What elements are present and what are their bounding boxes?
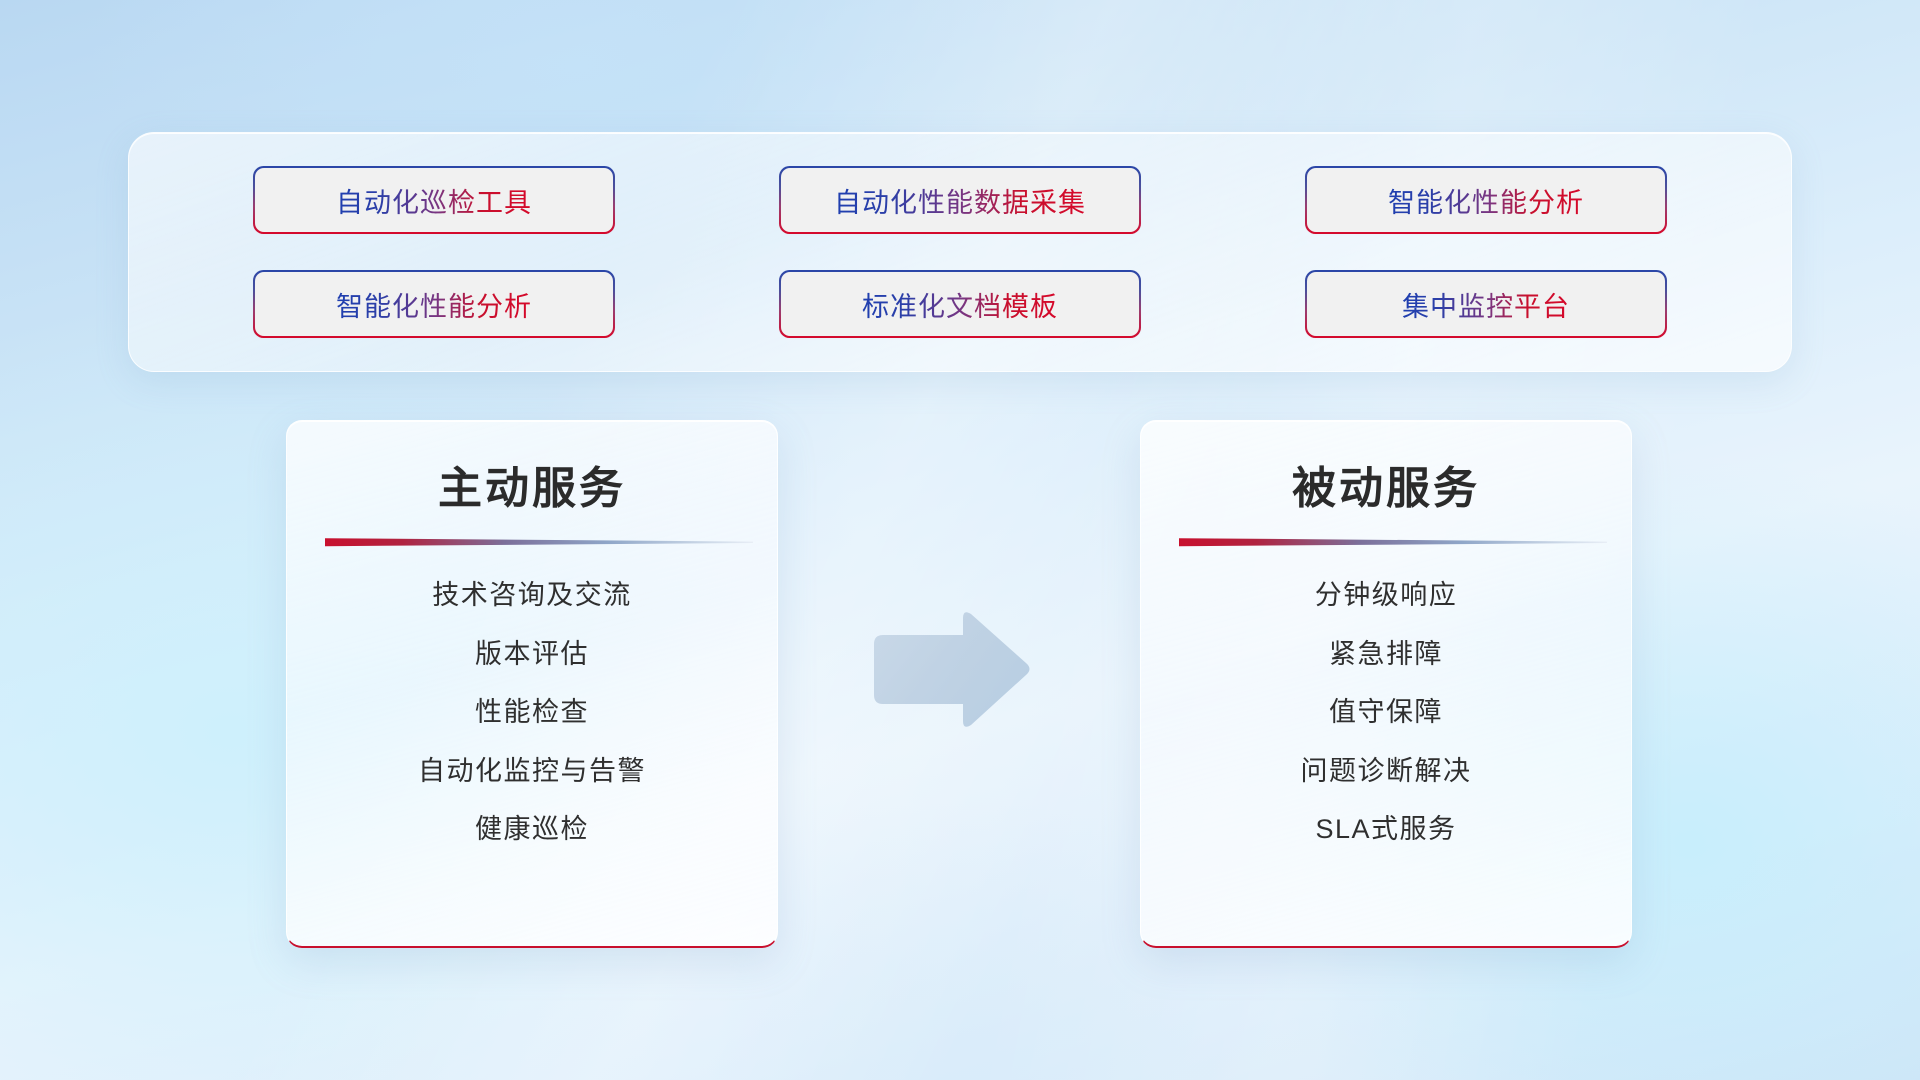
slide-canvas: 自动化巡检工具 自动化性能数据采集 智能化性能分析 智能化性能分析 标准化文档模… [0,0,1920,1080]
service-list-reactive: 分钟级响应 紧急排障 值守保障 问题诊断解决 SLA式服务 [1179,579,1593,845]
capability-chip-label: 标准化文档模板 [862,285,1058,324]
capability-chip-automated-performance-data-collection[interactable]: 自动化性能数据采集 [781,168,1139,232]
capability-chip-automated-inspection-tool[interactable]: 自动化巡检工具 [255,168,613,232]
card-title: 被动服务 [1179,465,1593,513]
capability-chip-label: 智能化性能分析 [1388,181,1584,220]
list-item: 值守保障 [1179,696,1593,728]
title-divider [325,537,753,547]
card-title: 主动服务 [325,465,739,513]
capability-chip-intelligent-performance-analysis-bottom[interactable]: 智能化性能分析 [255,272,613,336]
capability-panel: 自动化巡检工具 自动化性能数据采集 智能化性能分析 智能化性能分析 标准化文档模… [128,132,1792,372]
list-item: SLA式服务 [1179,813,1593,845]
list-item: 版本评估 [325,638,739,670]
capability-chip-centralized-monitoring-platform[interactable]: 集中监控平台 [1307,272,1665,336]
capability-chip-intelligent-performance-analysis-top[interactable]: 智能化性能分析 [1307,168,1665,232]
list-item: 问题诊断解决 [1179,755,1593,787]
capability-chip-label: 集中监控平台 [1402,285,1570,324]
list-item: 自动化监控与告警 [325,755,739,787]
list-item: 技术咨询及交流 [325,579,739,611]
capability-chip-label: 自动化性能数据采集 [834,181,1086,220]
list-item: 健康巡检 [325,813,739,845]
service-list-proactive: 技术咨询及交流 版本评估 性能检查 自动化监控与告警 健康巡检 [325,579,739,845]
flow-arrow-right-icon [866,608,1032,732]
title-divider [1179,537,1607,547]
capability-chip-label: 自动化巡检工具 [336,181,532,220]
list-item: 性能检查 [325,696,739,728]
service-card-reactive: 被动服务 分钟级响应 紧急排障 值守保障 [1140,420,1632,948]
list-item: 分钟级响应 [1179,579,1593,611]
capability-chip-standardized-document-template[interactable]: 标准化文档模板 [781,272,1139,336]
capability-chip-label: 智能化性能分析 [336,285,532,324]
service-card-proactive: 主动服务 技术咨询及交流 版本评估 性能检查 [286,420,778,948]
list-item: 紧急排障 [1179,638,1593,670]
